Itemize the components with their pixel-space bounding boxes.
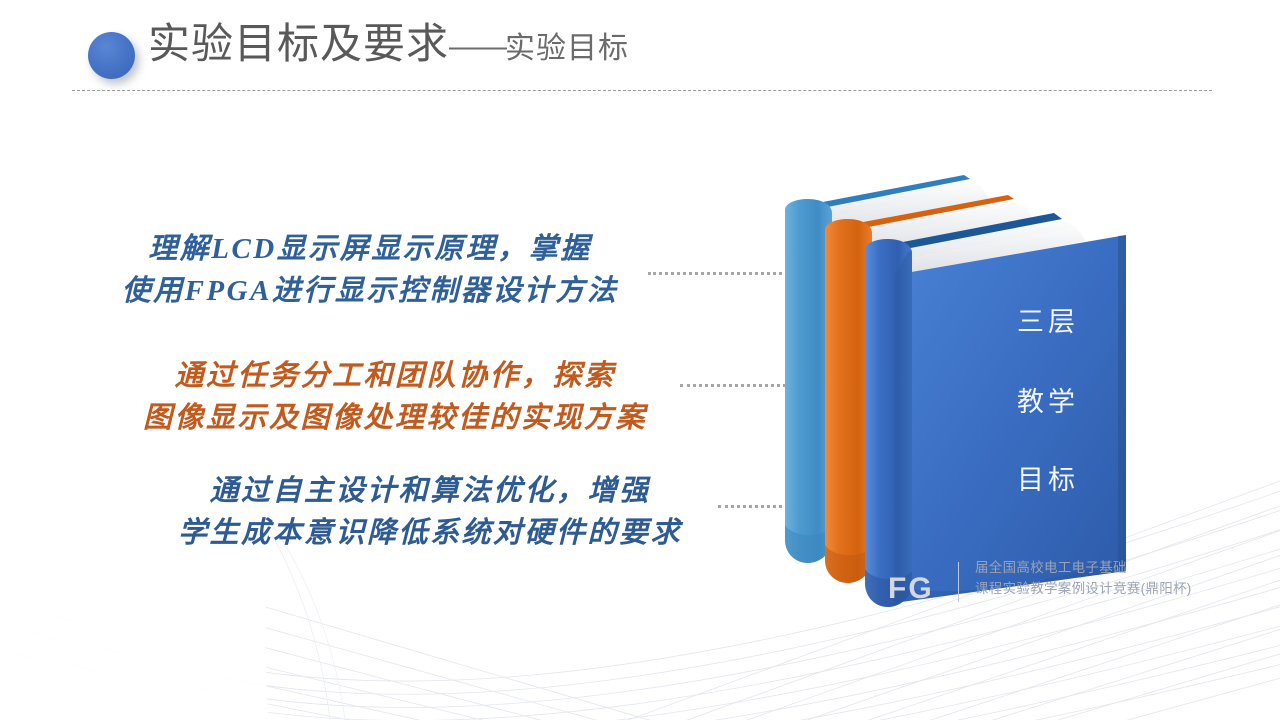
goal-text-2: 通过任务分工和团队协作，探索 图像显示及图像处理较佳的实现方案 [95,355,695,439]
book-label-1: 三层 [988,300,1108,339]
watermark-separator [958,562,959,602]
title-bullet-icon [88,32,135,79]
header-divider [72,90,1212,91]
slide-header: 实验目标及要求 —— 实验目标 [0,0,1280,96]
watermark-text: 届全国高校电工电子基础 课程实验教学案例设计竞赛(鼎阳杯) [975,558,1235,600]
page-title-sub: 实验目标 [505,23,629,67]
book-label-2: 教学 [988,380,1108,419]
page-title-dash: —— [449,30,505,64]
goal-text-3: 通过自主设计和算法优化，增强 学生成本意识降低系统对硬件的要求 [130,470,730,554]
books-svg [770,165,1170,615]
competition-logo: FG [888,572,934,606]
goal-text-1: 理解LCD显示屏显示原理，掌握 使用FPGA进行显示控制器设计方法 [80,228,660,312]
page-title: 实验目标及要求 —— 实验目标 [148,23,629,67]
slide-canvas: 实验目标及要求 —— 实验目标 理解LCD显示屏显示原理，掌握 使用FPGA进行… [0,0,1280,720]
page-title-main: 实验目标及要求 [148,23,449,65]
watermark-line-2: 课程实验教学案例设计竞赛(鼎阳杯) [975,579,1235,600]
books-illustration: 三层 教学 目标 [770,165,1170,615]
book-label-3: 目标 [988,458,1108,497]
watermark-line-1: 届全国高校电工电子基础 [975,558,1235,579]
